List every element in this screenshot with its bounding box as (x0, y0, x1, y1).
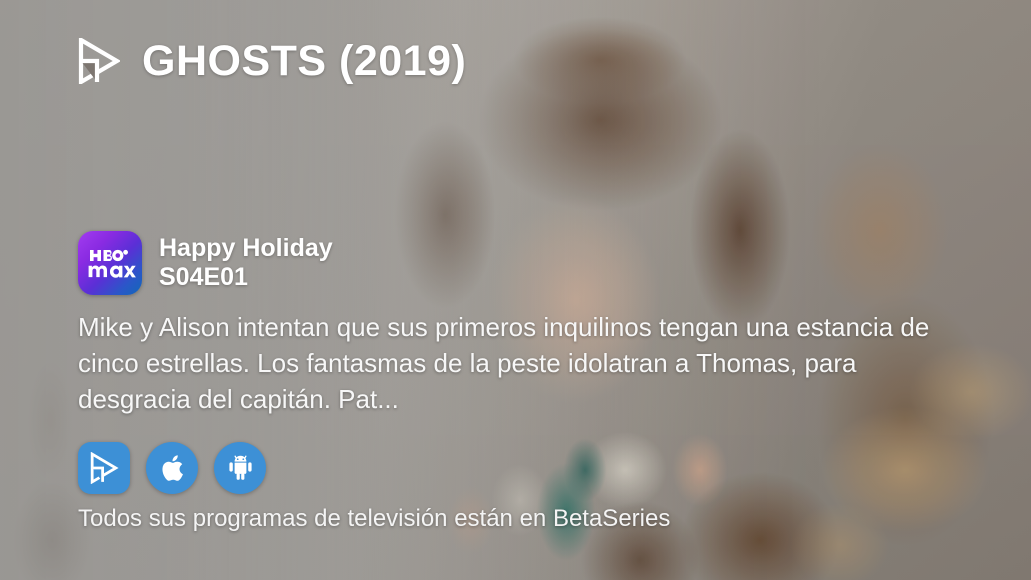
episode-synopsis: Mike y Alison intentan que sus primeros … (78, 310, 933, 418)
episode-meta: Happy Holiday S04E01 (159, 234, 333, 293)
betaseries-play-glyph-icon (89, 452, 119, 484)
app-links-row (78, 442, 266, 494)
android-play-store-icon[interactable] (214, 442, 266, 494)
android-robot-glyph-icon (226, 453, 255, 483)
content-column: GHOSTS (2019) (78, 0, 958, 580)
brand-header: GHOSTS (2019) (78, 38, 466, 84)
betaseries-play-logo-icon (78, 38, 120, 84)
promo-card: GHOSTS (2019) (0, 0, 1031, 580)
page-title: GHOSTS (2019) (142, 40, 466, 83)
footer-tagline: Todos sus programas de televisión están … (78, 504, 670, 534)
episode-title: Happy Holiday (159, 234, 333, 264)
apple-logo-glyph-icon (159, 453, 186, 484)
apple-app-store-icon[interactable] (146, 442, 198, 494)
hbo-max-logo-icon[interactable] (78, 231, 142, 295)
betaseries-app-icon[interactable] (78, 442, 130, 494)
hbo-max-wordmark-icon (84, 244, 136, 282)
episode-code: S04E01 (159, 263, 333, 293)
episode-header: Happy Holiday S04E01 (78, 231, 333, 295)
